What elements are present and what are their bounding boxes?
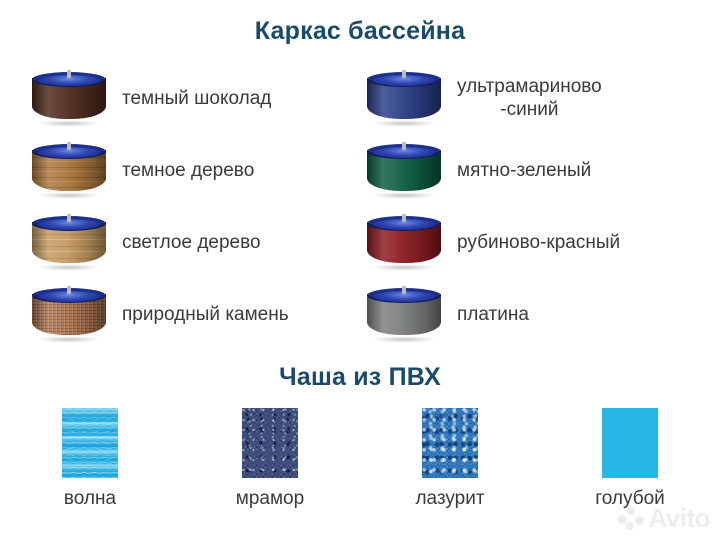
skimmer-post <box>67 286 71 294</box>
frame-option-platinum[interactable]: платина <box>355 278 720 350</box>
skimmer-post <box>402 70 406 78</box>
pvc-option-blue[interactable]: голубой <box>540 408 720 528</box>
frame-option-label: темный шоколад <box>122 87 271 110</box>
frame-option-ultramarine-blue[interactable]: ультрамариново -синий <box>355 62 720 134</box>
frame-option-label: ультрамариново -синий <box>457 75 602 121</box>
pool-shadow <box>372 120 436 127</box>
pool-thumbnail <box>363 282 445 346</box>
frame-option-label: темное дерево <box>122 159 254 182</box>
pool-shadow <box>37 192 101 199</box>
pvc-option-label: голубой <box>595 488 665 510</box>
pvc-swatch-row: волна мрамор лазурит голубой <box>0 408 720 528</box>
skimmer-post <box>67 214 71 222</box>
pool-cylinder <box>367 144 441 194</box>
frame-option-label: рубиново-красный <box>457 231 620 254</box>
pvc-option-marble[interactable]: мрамор <box>180 408 360 528</box>
pool-thumbnail <box>363 138 445 202</box>
pool-thumbnail <box>363 210 445 274</box>
pool-thumbnail <box>28 282 110 346</box>
frame-option-natural-stone[interactable]: природный камень <box>0 278 355 350</box>
pool-thumbnail <box>28 210 110 274</box>
skimmer-post <box>402 142 406 150</box>
pvc-swatch <box>422 408 478 478</box>
frame-option-mint-green[interactable]: мятно-зеленый <box>355 134 720 206</box>
skimmer-post <box>67 142 71 150</box>
frame-option-label: платина <box>457 303 529 326</box>
frame-option-dark-chocolate[interactable]: темный шоколад <box>0 62 355 134</box>
pool-cylinder <box>367 288 441 338</box>
pool-cylinder <box>32 288 106 338</box>
pool-cylinder <box>367 216 441 266</box>
skimmer-post <box>67 70 71 78</box>
pool-shadow <box>372 264 436 271</box>
pool-thumbnail <box>28 138 110 202</box>
frame-section-title: Каркас бассейна <box>0 0 720 46</box>
pool-cylinder <box>32 144 106 194</box>
pool-shadow <box>37 120 101 127</box>
pvc-option-lazurite[interactable]: лазурит <box>360 408 540 528</box>
pvc-option-wave[interactable]: волна <box>0 408 180 528</box>
frame-option-label: мятно-зеленый <box>457 159 591 182</box>
frame-option-label-line1: ультрамариново <box>457 76 602 97</box>
pool-shadow <box>37 264 101 271</box>
frame-option-label: светлое дерево <box>122 231 261 254</box>
pvc-swatch <box>62 408 118 478</box>
pool-cylinder <box>367 72 441 122</box>
pool-cylinder <box>32 72 106 122</box>
pool-shadow <box>37 336 101 343</box>
pvc-option-label: волна <box>64 488 116 510</box>
pool-shadow <box>372 336 436 343</box>
skimmer-post <box>402 214 406 222</box>
pvc-option-label: мрамор <box>236 488 304 510</box>
frame-option-light-wood[interactable]: светлое дерево <box>0 206 355 278</box>
poster-root: Каркас бассейна темный шоколад <box>0 0 720 540</box>
pvc-section-title: Чаша из ПВХ <box>0 358 720 392</box>
pvc-swatch <box>242 408 298 478</box>
pool-cylinder <box>32 216 106 266</box>
skimmer-post <box>402 286 406 294</box>
pool-shadow <box>372 192 436 199</box>
frame-colour-grid: темный шоколад ультрамариново -синий <box>0 62 720 352</box>
frame-option-label: природный камень <box>122 303 289 326</box>
pool-thumbnail <box>28 66 110 130</box>
pvc-option-label: лазурит <box>415 488 484 510</box>
frame-option-ruby-red[interactable]: рубиново-красный <box>355 206 720 278</box>
frame-option-label-line2: -синий <box>500 99 558 120</box>
pool-thumbnail <box>363 66 445 130</box>
frame-option-dark-wood[interactable]: темное дерево <box>0 134 355 206</box>
pvc-swatch <box>602 408 658 478</box>
